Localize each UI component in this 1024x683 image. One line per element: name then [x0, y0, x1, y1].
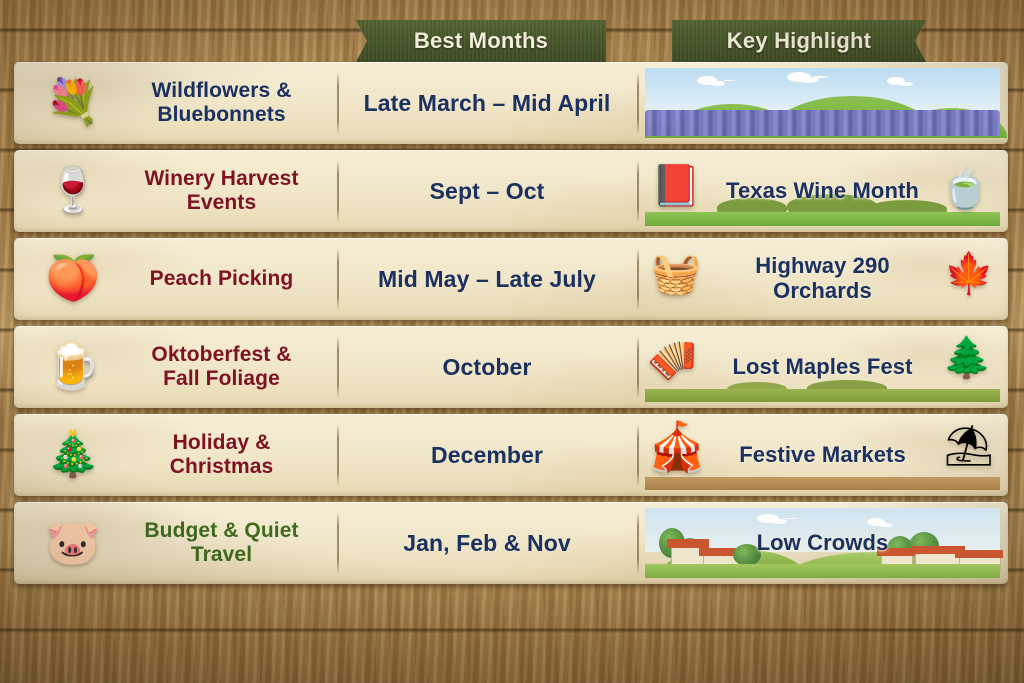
market-stall-icon: 🎪	[647, 424, 707, 472]
row-label: Winery Harvest Events	[132, 167, 337, 214]
beer-mug-icon: 🍺	[14, 345, 132, 389]
peach-icon: 🍑	[14, 257, 132, 301]
piggy-bank-icon: 🐷	[14, 521, 132, 565]
row-highlight-cell	[637, 62, 1008, 144]
maple-leaves-icon: 🍁	[944, 254, 994, 294]
row-label: Oktoberfest & Fall Foliage	[132, 343, 337, 390]
wine-bottle-and-glass-icon: 🍷	[14, 169, 132, 213]
infographic-board: Best Months Key Highlight 💐 Wildflowers …	[0, 0, 1024, 683]
row-label: Holiday & Christmas	[132, 431, 337, 478]
row-months-cell: December	[337, 414, 637, 496]
row-highlight-text: Low Crowds	[753, 531, 893, 556]
row-highlight-text: Lost Maples Fest	[728, 355, 916, 380]
key-highlight-banner-label: Key Highlight	[727, 28, 871, 54]
row-label-cell: 🍑 Peach Picking	[14, 238, 337, 320]
table-row: 🐷 Budget & Quiet Travel Jan, Feb & Nov	[14, 502, 1008, 584]
row-highlight-text: Highway 290 Orchards	[751, 254, 893, 304]
row-label: Peach Picking	[132, 267, 337, 291]
bluebonnet-field-landscape	[637, 62, 1008, 144]
row-months-cell: Jan, Feb & Nov	[337, 502, 637, 584]
table-row: 🍑 Peach Picking Mid May – Late July 🧺 Hi…	[14, 238, 1008, 320]
table-row: 🍷 Winery Harvest Events Sept – Oct 📕 Tex…	[14, 150, 1008, 232]
passport-icon: 📕	[651, 166, 701, 206]
row-highlight-cell: 🎪 Festive Markets ⛱	[637, 414, 1008, 496]
row-highlight-cell: 🪗 Lost Maples Fest 🌲	[637, 326, 1008, 408]
row-months-cell: Mid May – Late July	[337, 238, 637, 320]
best-months-banner-label: Best Months	[414, 28, 548, 54]
row-months-cell: Late March – Mid April	[337, 62, 637, 144]
row-months: Late March – Mid April	[364, 90, 611, 117]
row-months: December	[431, 442, 543, 469]
market-umbrella-icon: ⛱	[943, 426, 994, 466]
row-label-cell: 🍺 Oktoberfest & Fall Foliage	[14, 326, 337, 408]
accordion-icon: 🪗	[647, 340, 697, 380]
mulled-wine-cup-icon: 🍵	[940, 168, 990, 208]
row-label-cell: 💐 Wildflowers & Bluebonnets	[14, 62, 337, 144]
row-label-cell: 🎄 Holiday & Christmas	[14, 414, 337, 496]
row-label-cell: 🐷 Budget & Quiet Travel	[14, 502, 337, 584]
row-label-cell: 🍷 Winery Harvest Events	[14, 150, 337, 232]
row-label: Budget & Quiet Travel	[132, 519, 337, 566]
pine-tree-icon: 🌲	[942, 338, 992, 378]
row-highlight-text: Texas Wine Month	[722, 179, 923, 204]
row-highlight-cell: 🧺 Highway 290 Orchards 🍁	[637, 238, 1008, 320]
row-highlight-cell: Low Crowds	[637, 502, 1008, 584]
row-highlight-cell: 📕 Texas Wine Month 🍵	[637, 150, 1008, 232]
key-highlight-banner: Key Highlight	[672, 20, 926, 62]
row-months: Sept – Oct	[430, 178, 545, 205]
christmas-tree-icon: 🎄	[14, 433, 132, 477]
row-highlight-text: Festive Markets	[735, 443, 910, 468]
row-months: Mid May – Late July	[378, 266, 596, 293]
row-months: Jan, Feb & Nov	[403, 530, 571, 557]
peach-basket-icon: 🧺	[651, 254, 701, 294]
table-row: 🎄 Holiday & Christmas December 🎪 Festive…	[14, 414, 1008, 496]
row-months-cell: Sept – Oct	[337, 150, 637, 232]
table-row: 🍺 Oktoberfest & Fall Foliage October 🪗 L…	[14, 326, 1008, 408]
bluebonnet-flowers-icon: 💐	[14, 81, 132, 125]
row-months: October	[443, 354, 532, 381]
row-label: Wildflowers & Bluebonnets	[132, 79, 337, 126]
row-months-cell: October	[337, 326, 637, 408]
best-months-banner: Best Months	[356, 20, 606, 62]
table-row: 💐 Wildflowers & Bluebonnets Late March –…	[14, 62, 1008, 144]
